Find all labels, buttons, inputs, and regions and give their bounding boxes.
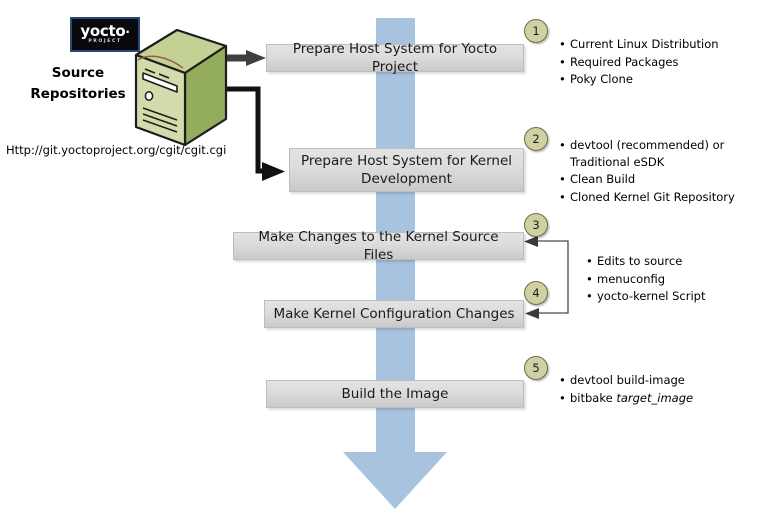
step-box-make-kernel-config-changes[interactable]: Make Kernel Configuration Changes xyxy=(264,300,524,328)
server-tower-icon xyxy=(133,27,229,148)
list-item: Required Packages xyxy=(570,54,764,71)
list-item: yocto-kernel Script xyxy=(597,288,763,305)
step-box-build-image[interactable]: Build the Image xyxy=(266,380,524,408)
step-box-prepare-host-kernel[interactable]: Prepare Host System for Kernel Developme… xyxy=(289,148,524,192)
source-label-line2: Repositories xyxy=(18,84,138,105)
source-repositories-label: Source Repositories xyxy=(18,63,138,105)
list-item: Poky Clone xyxy=(570,71,764,88)
step-badge-2: 2 xyxy=(524,127,548,151)
list-item: Clean Build xyxy=(570,171,756,188)
list-item: bitbake target_image xyxy=(570,390,756,407)
yocto-project-logo: yocto· PROJECT xyxy=(70,17,140,52)
logo-wordmark: yocto· xyxy=(80,24,129,39)
step-badge-4: 4 xyxy=(524,281,548,305)
step-5-bullets: devtool build-image bitbake target_image xyxy=(556,372,756,407)
list-item-text: bitbake xyxy=(570,391,616,405)
list-item: Cloned Kernel Git Repository xyxy=(570,189,756,206)
list-item: Edits to source xyxy=(597,253,763,270)
list-item-emphasis: target_image xyxy=(616,391,693,405)
list-item: devtool build-image xyxy=(570,372,756,389)
logo-subtext: PROJECT xyxy=(88,40,121,45)
step-badge-5: 5 xyxy=(524,356,548,380)
step-1-bullets: Current Linux Distribution Required Pack… xyxy=(556,36,764,89)
step-badge-3: 3 xyxy=(524,213,548,237)
list-item: devtool (recommended) or Traditional eSD… xyxy=(570,137,756,170)
step-2-bullets: devtool (recommended) or Traditional eSD… xyxy=(556,137,756,206)
step-box-prepare-host-yocto[interactable]: Prepare Host System for Yocto Project xyxy=(266,44,524,72)
step-badge-1: 1 xyxy=(524,19,548,43)
steps-3-4-bullets: Edits to source menuconfig yocto-kernel … xyxy=(583,253,763,306)
step-box-make-kernel-source-changes[interactable]: Make Changes to the Kernel Source Files xyxy=(233,232,524,260)
logo-dot: · xyxy=(125,25,129,39)
source-label-line1: Source xyxy=(18,63,138,84)
list-item-text: devtool build-image xyxy=(570,373,685,387)
list-item: Current Linux Distribution xyxy=(570,36,764,53)
logo-word-text: yocto xyxy=(80,22,125,40)
list-item: menuconfig xyxy=(597,271,763,288)
